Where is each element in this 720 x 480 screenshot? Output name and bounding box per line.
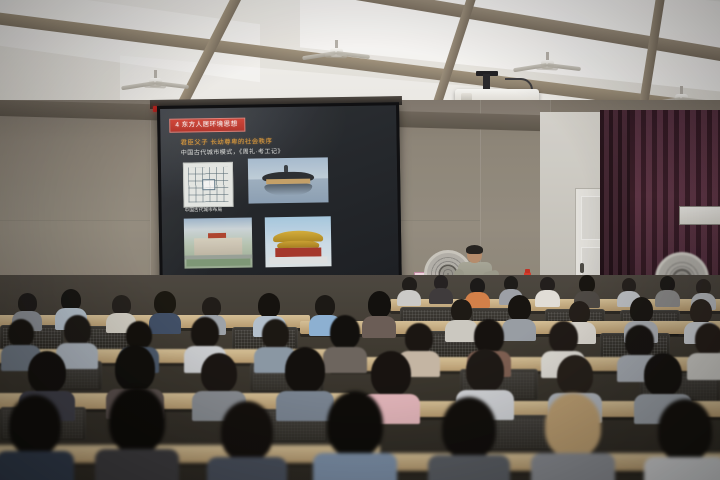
audience-member: [576, 275, 598, 303]
ceiling-fan-icon: [120, 70, 190, 90]
slide-title: 4 东方人居环境思想: [169, 118, 245, 133]
slide-line-1: 君臣父子 长幼尊卑的社会秩序: [180, 136, 272, 146]
audience-seating: [0, 275, 720, 480]
presentation-slide: 4 东方人居环境思想 君臣父子 长幼尊卑的社会秩序 中国古代城市模式，《周礼·考…: [160, 105, 399, 296]
audience-member: [694, 323, 720, 371]
audience-member: [286, 347, 324, 407]
lecture-hall-photo: 4 东方人居环境思想 君臣父子 长幼尊卑的社会秩序 中国古代城市模式，《周礼·考…: [0, 0, 720, 480]
slide-figure-aerial-plaza: 北京故宫：中国封建王朝的中心建筑: [184, 218, 253, 269]
slide-figure-caption-grid: 中国古代城市布局: [185, 207, 223, 214]
ceiling-fan-icon: [300, 40, 372, 60]
door-handle-icon[interactable]: [580, 263, 584, 273]
audience-member: [448, 299, 474, 335]
audience-member: [62, 315, 92, 361]
slide-figure-hall-reflection: [248, 157, 329, 203]
projection-screen: 4 东方人居环境思想 君臣父子 长幼尊卑的社会秩序 中国古代城市模式，《周礼·考…: [157, 102, 402, 299]
wall-notice-sign: [679, 206, 720, 225]
audience-member: [10, 395, 60, 480]
slide-figure-forbidden-city: 北京故宫：古代最高等级的建筑形式: [265, 216, 332, 267]
audience-member: [222, 401, 272, 480]
audience-member: [506, 295, 532, 333]
audience-member: [536, 277, 558, 305]
projector-arm: [483, 74, 490, 90]
slide-line-2: 中国古代城市模式，《周礼·考工记》: [181, 146, 284, 157]
audience-member: [656, 276, 678, 304]
slide-figure-city-grid: [183, 162, 234, 208]
audience-member: [330, 315, 360, 363]
audience-member: [660, 399, 710, 480]
audience-member: [444, 397, 494, 480]
audience-member: [398, 277, 420, 305]
audience-member: [330, 391, 380, 480]
audience-member: [548, 393, 598, 480]
audience-member: [366, 291, 392, 329]
audience-member: [112, 387, 162, 477]
ceiling-fan-icon: [512, 52, 582, 72]
audience-member: [152, 291, 178, 327]
